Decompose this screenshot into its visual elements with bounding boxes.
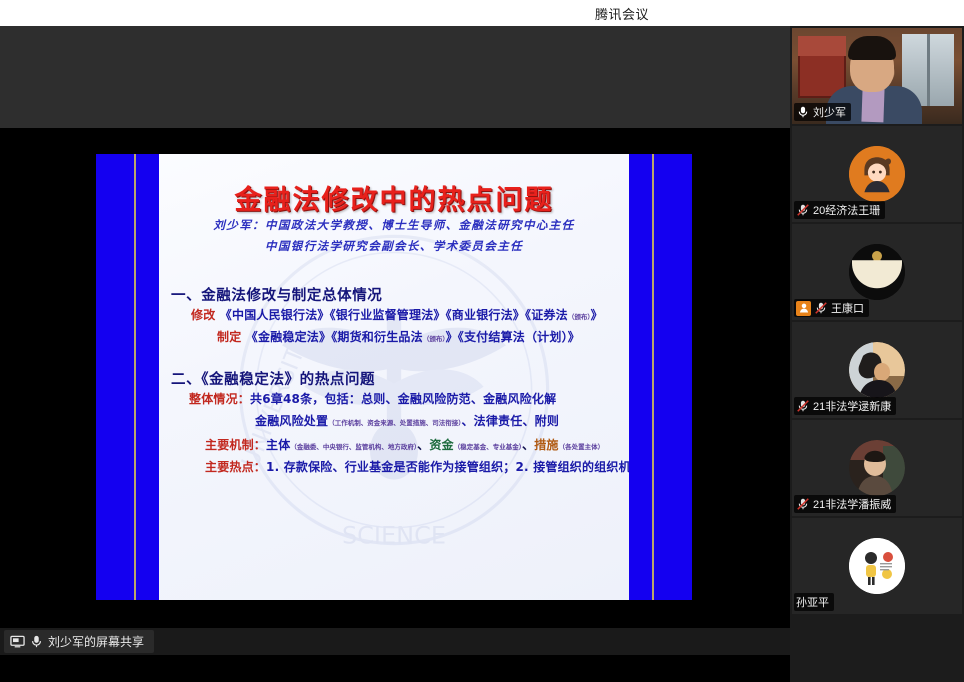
modify-text: 《中国人民银行法》《银行业监督管理法》《商业银行法》《证券法 [220, 308, 568, 322]
slide-mechanism-line: 主要机制：主体（金融委、中央银行、监管机构、地方政府）、资金（稳定基金、专业基金… [205, 436, 604, 453]
share-status-pill[interactable]: 刘少军的屏幕共享 [4, 630, 154, 653]
establish-text: 《金融稳定法》《期货和衍生品法 [246, 330, 423, 344]
shared-screen-canvas: SCIENCE UNIVERSITY 金融法修改中的热点问题 刘少军：中国政法大… [0, 26, 790, 655]
mechanism-note-3: （各处置主体） [559, 443, 605, 451]
slide-section-1-heading: 一、金融法修改与制定总体情况 [171, 284, 382, 305]
slide-overall-line-2: 金融风险处置（工作机制、资金来源、处置措施、司法衔接）、法律责任、附则 [255, 412, 559, 429]
participant-namebar-1: 20经济法王珊 [794, 201, 885, 219]
share-status-text: 刘少军的屏幕共享 [48, 633, 144, 650]
app-title: 腾讯会议 [595, 4, 649, 23]
modify-tail: 》 [591, 308, 603, 322]
share-status-bar: 刘少军的屏幕共享 [0, 628, 790, 655]
mechanism-note-1: （金融委、中央银行、监管机构、地方政府） [290, 443, 417, 451]
mechanism-sep-1: 、 [417, 438, 429, 452]
mechanism-sep-2: 、 [522, 438, 534, 452]
presentation-slide: SCIENCE UNIVERSITY 金融法修改中的热点问题 刘少军：中国政法大… [96, 154, 692, 600]
participant-tile-3[interactable]: 21非法学逯新康 [792, 322, 962, 418]
shared-screen-region[interactable]: SCIENCE UNIVERSITY 金融法修改中的热点问题 刘少军：中国政法大… [0, 26, 790, 655]
participant-tile-2[interactable]: 王康口 [792, 224, 962, 320]
hotspot-label: 主要热点： [205, 460, 266, 474]
participant-name-1: 20经济法王珊 [813, 202, 880, 218]
avatar [849, 538, 905, 594]
participant-tile-5[interactable]: 孙亚平 [792, 518, 962, 614]
overall-note-2: （工作机制、资金来源、处置措施、司法衔接） [328, 419, 461, 427]
avatar [849, 342, 905, 398]
participant-namebar-0: 刘少军 [794, 103, 851, 121]
mic-on-icon [796, 105, 810, 119]
letterbox-band [0, 26, 790, 128]
slide-border-left-inner [136, 154, 159, 600]
slide-border-left-outer [96, 154, 134, 600]
participant-namebar-3: 21非法学逯新康 [794, 397, 896, 415]
overall-label: 整体情况： [189, 392, 250, 406]
modify-label: 修改 [191, 308, 215, 322]
slide-subtitle-line-2: 中国银行法学研究会副会长、学术委员会主任 [159, 238, 629, 254]
modify-note: （颁布） [568, 313, 591, 321]
screen-share-icon [10, 634, 25, 649]
hotspot-text: 1. 存款保险、行业基金是否能作为接管组织；2. 接管组织的组织机制 [266, 460, 629, 474]
establish-label: 制定 [217, 330, 241, 344]
window-title-bar: 腾讯会议 [0, 0, 964, 27]
participant-tile-0[interactable]: 刘少军 [792, 28, 962, 124]
mechanism-item-2: 资金 [429, 438, 453, 452]
mechanism-item-3: 措施 [534, 438, 558, 452]
participant-name-3: 21非法学逯新康 [813, 398, 891, 414]
participant-name-4: 21非法学潘振威 [813, 496, 891, 512]
overall-text-2: 金融风险处置 [255, 414, 328, 428]
mic-muted-icon [796, 497, 810, 511]
slide-border-right-inner [629, 154, 652, 600]
mic-muted-icon [796, 203, 810, 217]
slide-overall-line: 整体情况：共6章48条，包括：总则、金融风险防范、金融风险化解 [189, 390, 556, 407]
overall-text: 共6章48条，包括：总则、金融风险防范、金融风险化解 [250, 392, 556, 406]
participant-name-5: 孙亚平 [796, 594, 829, 610]
participant-namebar-2: 王康口 [794, 299, 869, 317]
participant-tile-1[interactable]: 20经济法王珊 [792, 126, 962, 222]
host-badge [796, 301, 811, 316]
slide-hotspot-line: 主要热点：1. 存款保险、行业基金是否能作为接管组织；2. 接管组织的组织机制 [205, 458, 629, 475]
avatar [849, 440, 905, 496]
tencent-meeting-window: 腾讯会议 [0, 0, 964, 682]
slide-modify-line: 修改 《中国人民银行法》《银行业监督管理法》《商业银行法》《证券法（颁布）》 [191, 306, 603, 323]
participant-namebar-4: 21非法学潘振威 [794, 495, 896, 513]
slide-establish-line: 制定 《金融稳定法》《期货和衍生品法（颁布）》《支付结算法（计划）》 [217, 328, 580, 345]
slide-border-right-outer [654, 154, 692, 600]
mic-on-icon [29, 634, 44, 649]
participant-namebar-5: 孙亚平 [794, 593, 834, 611]
slide-title: 金融法修改中的热点问题 [159, 178, 629, 217]
mechanism-item-1: 主体 [266, 438, 290, 452]
person-icon [798, 302, 810, 314]
establish-note: （颁布） [423, 335, 446, 343]
mic-muted-icon [814, 301, 828, 315]
mechanism-label: 主要机制： [205, 438, 266, 452]
overall-tail-2: 、法律责任、附则 [461, 414, 559, 428]
slide-page: SCIENCE UNIVERSITY 金融法修改中的热点问题 刘少军：中国政法大… [159, 154, 629, 600]
slide-text-content: 金融法修改中的热点问题 刘少军：中国政法大学教授、博士生导师、金融法研究中心主任… [159, 154, 629, 600]
participant-video-strip[interactable]: 刘少军 [790, 26, 964, 682]
mechanism-note-2: （稳定基金、专业基金） [454, 443, 522, 451]
slide-section-2-heading: 二、《金融稳定法》的热点问题 [171, 368, 375, 389]
avatar [849, 146, 905, 202]
participant-name-2: 王康口 [831, 300, 864, 316]
mic-muted-icon [796, 399, 810, 413]
establish-tail: 》《支付结算法（计划）》 [446, 330, 580, 344]
participant-name-0: 刘少军 [813, 104, 846, 120]
avatar [849, 244, 905, 300]
slide-subtitle-line-1: 刘少军：中国政法大学教授、博士生导师、金融法研究中心主任 [159, 217, 629, 233]
participant-tile-4[interactable]: 21非法学潘振威 [792, 420, 962, 516]
